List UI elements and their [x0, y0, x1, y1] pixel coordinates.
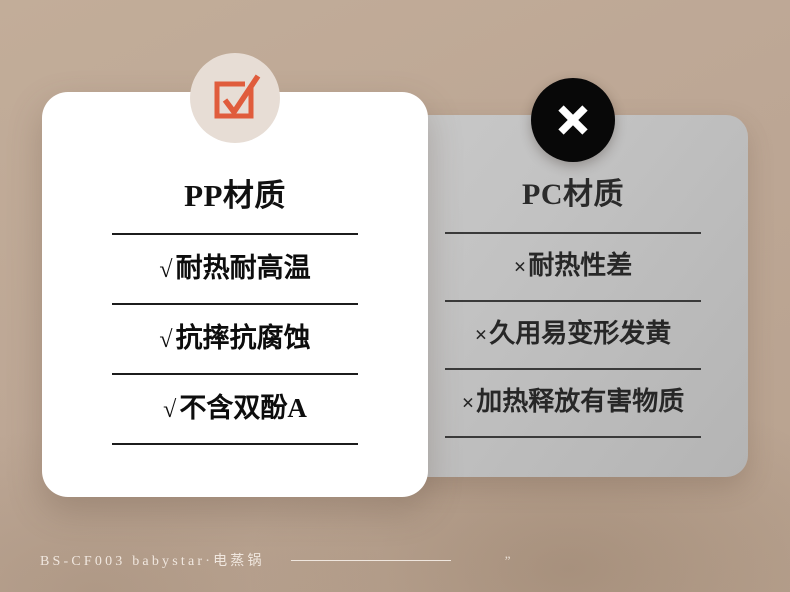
check-mark-icon: √	[159, 257, 172, 284]
list-item: √ 耐热耐高温	[112, 235, 358, 305]
x-circle-badge	[531, 78, 615, 162]
pc-feature-label: 久用易变形发黄	[489, 313, 671, 350]
list-item: √ 不含双酚A	[112, 375, 358, 445]
checked-checkbox-icon	[209, 72, 261, 124]
pp-card-content: PP材质 √ 耐热耐高温 √ 抗摔抗腐蚀	[42, 92, 428, 497]
pp-feature-list: √ 耐热耐高温 √ 抗摔抗腐蚀 √ 不含双酚A	[112, 235, 358, 445]
footer: BS-CF003 babystar·电蒸锅 ”	[0, 540, 790, 580]
list-item: × 久用易变形发黄	[445, 302, 701, 370]
close-icon	[551, 98, 595, 142]
list-item: × 加热释放有害物质	[445, 370, 701, 438]
checkbox-badge	[190, 53, 280, 143]
quote-mark-icon: ”	[505, 554, 511, 567]
pc-feature-list: × 耐热性差 × 久用易变形发黄 × 加热释放有害物质	[445, 234, 701, 438]
cross-mark-icon: ×	[514, 254, 527, 280]
footer-divider	[291, 560, 451, 561]
pc-card-title: PC材质	[522, 180, 624, 210]
pc-feature-row: × 久用易变形发黄	[445, 302, 701, 359]
pp-feature-label: 抗摔抗腐蚀	[176, 316, 311, 355]
pc-feature-label: 加热释放有害物质	[476, 381, 684, 418]
list-item: √ 抗摔抗腐蚀	[112, 305, 358, 375]
pc-feature-divider	[445, 436, 701, 438]
pc-card-content: PC材质 × 耐热性差 × 久用易变形发黄	[398, 115, 748, 477]
pp-material-card: PP材质 √ 耐热耐高温 √ 抗摔抗腐蚀	[42, 92, 428, 497]
list-item: × 耐热性差	[445, 234, 701, 302]
pp-feature-label: 不含双酚A	[179, 386, 307, 425]
pp-feature-row: √ 耐热耐高温	[112, 235, 358, 294]
pp-feature-divider	[112, 443, 358, 445]
cross-mark-icon: ×	[462, 390, 475, 416]
comparison-infographic: PC材质 × 耐热性差 × 久用易变形发黄	[0, 0, 790, 592]
check-mark-icon: √	[159, 327, 172, 354]
pc-feature-row: × 耐热性差	[445, 234, 701, 291]
pc-feature-label: 耐热性差	[528, 245, 632, 282]
cross-mark-icon: ×	[475, 322, 488, 348]
pc-material-card: PC材质 × 耐热性差 × 久用易变形发黄	[398, 115, 748, 477]
pp-card-title: PP材质	[184, 180, 286, 211]
pp-feature-row: √ 抗摔抗腐蚀	[112, 305, 358, 364]
check-mark-icon: √	[163, 397, 176, 424]
pp-feature-label: 耐热耐高温	[176, 246, 311, 285]
pc-feature-row: × 加热释放有害物质	[445, 370, 701, 427]
pp-feature-row: √ 不含双酚A	[112, 375, 358, 434]
product-code-label: BS-CF003 babystar·电蒸锅	[40, 550, 265, 570]
